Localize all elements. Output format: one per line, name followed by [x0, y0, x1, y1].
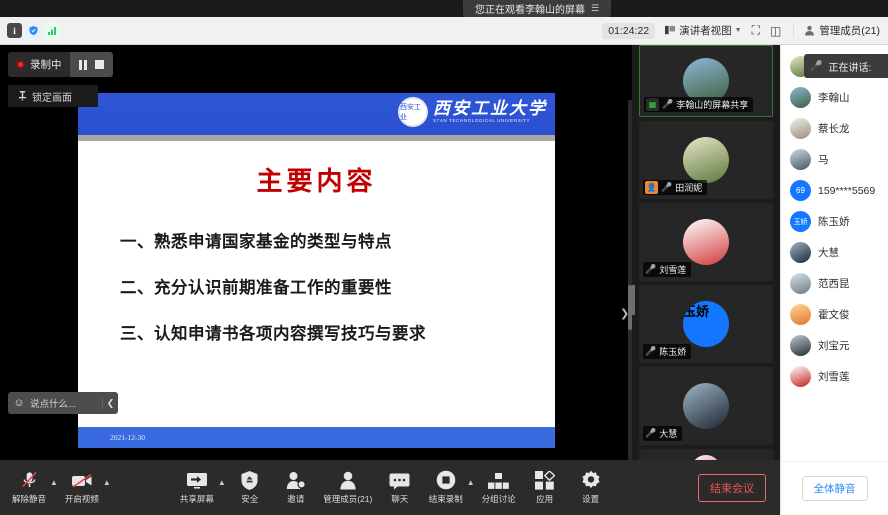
chevron-up-icon[interactable]: ▲: [50, 478, 58, 487]
avatar: [683, 219, 729, 265]
manage-members-header-label: 管理成员(21): [819, 23, 880, 38]
mic-muted-icon: [20, 470, 39, 490]
chevron-left-icon[interactable]: ❮: [102, 398, 118, 409]
video-thumbnail[interactable]: 玉娇 🎤 陈玉娇: [639, 285, 773, 363]
thumbnail-name: 李翰山的屏幕共享: [676, 98, 748, 111]
slide-header: 西安工业 西安工业大学 XI'AN TECHNOLOGICAL UNIVERSI…: [78, 93, 555, 135]
watching-screen-text: 您正在观看李翰山的屏幕: [475, 1, 585, 16]
chat-button[interactable]: 聊天: [377, 470, 423, 505]
gear-icon: [581, 470, 601, 490]
thumbnail-name: 大慧: [659, 427, 677, 440]
stop-record-icon: [436, 470, 456, 490]
video-thumbnail[interactable]: 🎤 大慧: [639, 367, 773, 445]
chevron-up-icon[interactable]: ▲: [218, 478, 226, 487]
invite-button[interactable]: 邀请: [273, 470, 319, 505]
thumbnail-label: 🎤 大慧: [643, 426, 682, 441]
video-filmstrip: ▦ 🎤 李翰山的屏幕共享 👤 🎤 田润妮 🎤 刘雪莲 玉娇: [632, 45, 780, 460]
chat-input-placeholder[interactable]: 说点什么...: [30, 396, 102, 410]
university-logo-text: 西安工业大学 XI'AN TECHNOLOGICAL UNIVERSITY: [433, 100, 547, 124]
list-item[interactable]: 大慧: [781, 237, 888, 268]
avatar: 玉娇: [683, 301, 729, 347]
meeting-toolbar: 解除静音 ▲ 开启视频 ▲ 共享屏幕 ▲ 安全 邀请: [0, 460, 780, 515]
participants-list[interactable]: 🎤 正在讲话: 李翰山 蔡长龙 马 69 159****5569: [781, 51, 888, 459]
thumbnail-label: ▦ 🎤 李翰山的屏幕共享: [644, 97, 753, 112]
avatar: [790, 273, 811, 294]
slide-title: 主要内容: [78, 161, 555, 198]
breakout-rooms-button[interactable]: 分组讨论: [476, 470, 522, 505]
top-bar-left-icons: i: [0, 23, 60, 38]
meeting-timer: 01:24:22: [602, 23, 655, 39]
participant-name: 霍文俊: [818, 307, 850, 322]
thumbnail-name: 田润妮: [675, 181, 702, 194]
slide-bullet: 二、充分认识前期准备工作的重要性: [120, 274, 555, 298]
avatar: [790, 242, 811, 263]
unmute-button[interactable]: 解除静音: [6, 470, 52, 505]
chat-label: 聊天: [391, 493, 408, 505]
emoji-icon[interactable]: ☺: [8, 397, 30, 409]
thumbnail-label: 🎤 刘雪莲: [643, 262, 691, 277]
security-button[interactable]: 安全: [227, 470, 273, 505]
list-item[interactable]: 李翰山: [781, 82, 888, 113]
avatar: 69: [790, 180, 811, 201]
university-name-en: XI'AN TECHNOLOGICAL UNIVERSITY: [433, 119, 547, 124]
avatar: 玉娇: [790, 211, 811, 232]
participant-name: 蔡长龙: [818, 121, 850, 136]
person-icon: [804, 25, 815, 36]
speaking-tooltip: 🎤 正在讲话:: [804, 54, 888, 78]
slide-header-strip: [78, 135, 555, 141]
fullscreen-icon[interactable]: ⛶: [752, 23, 760, 38]
signal-icon[interactable]: [45, 23, 60, 38]
filmstrip-scrollbar[interactable]: [632, 285, 635, 315]
avatar: [790, 118, 811, 139]
start-video-label: 开启视频: [65, 493, 99, 505]
list-item[interactable]: 蔡长龙: [781, 113, 888, 144]
avatar: [790, 304, 811, 325]
lock-screen-label: 锁定画面: [32, 89, 72, 104]
share-screen-label: 共享屏幕: [180, 493, 214, 505]
stop-recording-label: 结束录制: [429, 493, 463, 505]
thumbnail-label: 🎤 陈玉娇: [643, 344, 691, 359]
participant-name: 大慧: [818, 245, 839, 260]
mic-muted-icon: 🎤: [645, 428, 656, 439]
speaking-tooltip-text: 正在讲话:: [828, 59, 871, 74]
manage-participants-button[interactable]: 管理成员(21): [319, 470, 377, 505]
university-seal-text: 西安工业: [400, 102, 426, 122]
participants-panel-footer: 全体静音: [781, 461, 888, 515]
breakout-rooms-icon: [488, 470, 509, 490]
participant-name: 李翰山: [818, 90, 850, 105]
mic-on-icon: 🎤: [662, 99, 673, 110]
share-screen-button[interactable]: 共享屏幕: [174, 470, 220, 505]
slide-bullet-list: 一、熟悉申请国家基金的类型与特点 二、充分认识前期准备工作的重要性 三、认知申请…: [78, 228, 555, 344]
stop-recording-button[interactable]: 结束录制: [423, 470, 469, 505]
invite-label: 邀请: [287, 493, 304, 505]
avatar: [683, 137, 729, 183]
settings-label: 设置: [582, 493, 599, 505]
participants-icon: [338, 470, 358, 490]
participants-panel: ⚲ 搜索成员 🎤 正在讲话: 李翰山 蔡长龙 马: [780, 17, 888, 515]
mic-muted-icon: 🎤: [661, 182, 672, 193]
avatar-initials: 69: [796, 186, 805, 195]
unmute-label: 解除静音: [12, 493, 46, 505]
recording-status: 录制中: [8, 52, 70, 77]
info-icon[interactable]: i: [7, 23, 22, 38]
manage-members-header[interactable]: 管理成员(21): [793, 23, 880, 38]
host-badge-icon: 👤: [645, 181, 658, 194]
list-item[interactable]: 69 159****5569: [781, 175, 888, 206]
apps-icon: [535, 470, 555, 490]
avatar: [790, 149, 811, 170]
university-seal-icon: 西安工业: [398, 97, 428, 127]
top-bar: i 01:24:22 演讲者视图 ▼ ⛶ ◫ 管理成员(21): [0, 17, 888, 45]
avatar: [790, 366, 811, 387]
side-panel-icon[interactable]: ◫: [770, 24, 781, 38]
watching-screen-toast: 您正在观看李翰山的屏幕 ☰: [463, 0, 611, 17]
pin-icon: [18, 91, 27, 101]
participant-name: 159****5569: [818, 185, 875, 197]
list-item[interactable]: 🎤 正在讲话:: [781, 51, 888, 82]
screen-share-icon: ▦: [646, 98, 659, 111]
video-thumbnail[interactable]: [639, 449, 773, 460]
start-video-button[interactable]: 开启视频: [59, 470, 105, 505]
avatar: [790, 335, 811, 356]
chevron-down-icon: ▼: [735, 27, 742, 34]
thumbnail-name: 陈玉娇: [659, 345, 686, 358]
recording-label: 录制中: [30, 57, 62, 72]
slide-footer-date: 2021-12-30: [78, 427, 555, 448]
chevron-up-icon[interactable]: ▲: [467, 478, 475, 487]
participant-name: 范西昆: [818, 276, 850, 291]
apps-label: 应用: [536, 493, 553, 505]
avatar-initials: 玉娇: [683, 304, 709, 319]
avatar: [790, 87, 811, 108]
mic-muted-icon: 🎤: [645, 346, 656, 357]
apps-button[interactable]: 应用: [522, 470, 568, 505]
end-meeting-button[interactable]: 结束会议: [698, 474, 766, 502]
participant-name: 陈玉娇: [818, 214, 850, 229]
mic-muted-icon: 🎤: [810, 61, 822, 72]
mic-muted-icon: 🎤: [645, 264, 656, 275]
breakout-rooms-label: 分组讨论: [482, 493, 516, 505]
settings-button[interactable]: 设置: [568, 470, 614, 505]
participant-name: 刘宝元: [818, 338, 850, 353]
shield-icon[interactable]: [26, 23, 41, 38]
security-label: 安全: [241, 493, 258, 505]
video-thumbnail[interactable]: 👤 🎤 田润妮: [639, 121, 773, 199]
thumbnail-label: 👤 🎤 田润妮: [643, 180, 707, 195]
speaker-view-icon: [665, 25, 676, 36]
shield-icon: [241, 470, 258, 490]
top-bar-right: 01:24:22 演讲者视图 ▼ ⛶ ◫ 管理成员(21): [602, 23, 888, 39]
participant-name: 刘雪莲: [818, 369, 850, 384]
list-item[interactable]: 马: [781, 144, 888, 175]
chevron-up-icon[interactable]: ▲: [103, 478, 111, 487]
manage-participants-label: 管理成员(21): [323, 493, 372, 505]
video-thumbnail[interactable]: ▦ 🎤 李翰山的屏幕共享: [639, 45, 773, 117]
thumbnail-name: 刘雪莲: [659, 263, 686, 276]
slide-bullet: 三、认知申请书各项内容撰写技巧与要求: [120, 320, 555, 344]
chat-icon: [389, 470, 410, 490]
list-item[interactable]: 刘雪莲: [781, 361, 888, 392]
pause-icon[interactable]: [79, 60, 87, 70]
slide-bullet: 一、熟悉申请国家基金的类型与特点: [120, 228, 555, 252]
list-item[interactable]: 范西昆: [781, 268, 888, 299]
video-off-icon: [71, 470, 93, 490]
video-thumbnail[interactable]: 🎤 刘雪莲: [639, 203, 773, 281]
record-dot-icon: [16, 60, 25, 69]
lock-screen-banner[interactable]: 锁定画面: [8, 85, 98, 107]
list-item[interactable]: 刘宝元: [781, 330, 888, 361]
avatar-initials: 玉娇: [794, 217, 808, 227]
meeting-window: 您正在观看李翰山的屏幕 ☰ i 01:24:22 演讲者视图 ▼ ⛶ ◫ 管: [0, 0, 888, 515]
list-item[interactable]: 霍文俊: [781, 299, 888, 330]
invite-icon: [286, 470, 306, 490]
chat-composer[interactable]: ☺ 说点什么... ❮: [8, 392, 118, 414]
recording-controls: [70, 52, 113, 77]
screen-share-icon: [186, 470, 208, 490]
university-logo: 西安工业 西安工业大学 XI'AN TECHNOLOGICAL UNIVERSI…: [398, 97, 547, 127]
view-mode-selector[interactable]: 演讲者视图 ▼: [665, 23, 741, 38]
chevron-right-icon[interactable]: ❯: [620, 307, 629, 320]
list-item[interactable]: 玉娇 陈玉娇: [781, 206, 888, 237]
mute-all-button[interactable]: 全体静音: [802, 476, 868, 501]
participant-name: 马: [818, 152, 829, 167]
recording-indicator: 录制中: [8, 52, 113, 77]
presentation-slide: 西安工业 西安工业大学 XI'AN TECHNOLOGICAL UNIVERSI…: [78, 93, 555, 448]
hamburger-icon[interactable]: ☰: [591, 3, 599, 14]
avatar: [683, 383, 729, 429]
view-mode-label: 演讲者视图: [679, 23, 732, 38]
university-name-cn: 西安工业大学: [433, 100, 547, 117]
stop-icon[interactable]: [95, 60, 104, 69]
